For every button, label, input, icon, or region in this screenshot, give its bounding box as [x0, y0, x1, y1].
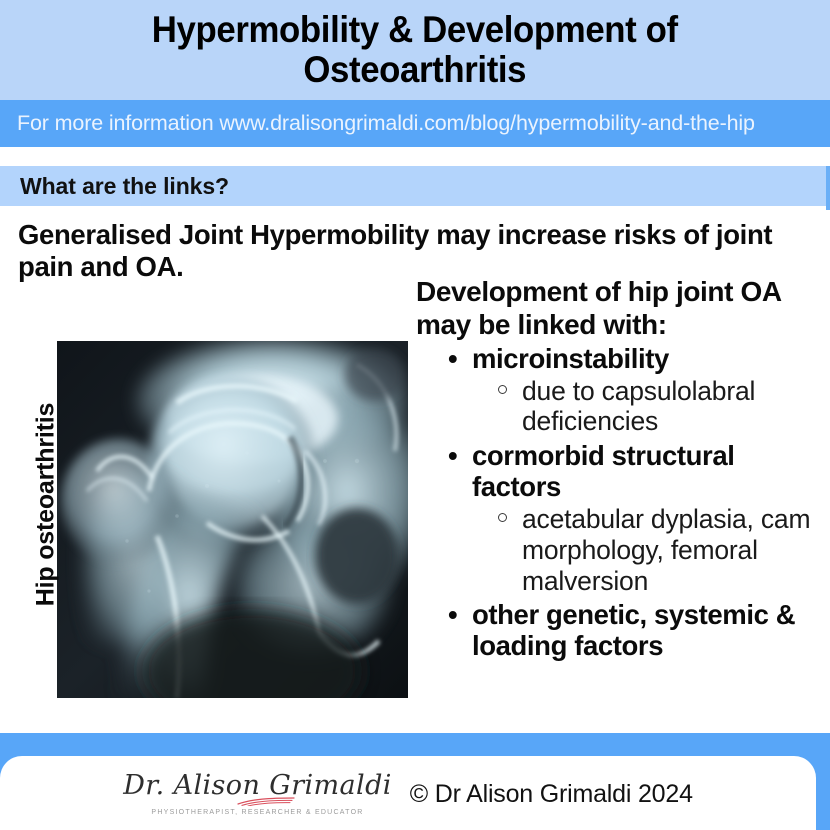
url-band: For more information www.dralisongrimald… — [0, 100, 830, 147]
hip-xray-radiograph-icon — [57, 341, 408, 698]
logo-signature-text: Dr. Alison Grimaldi — [123, 772, 392, 799]
sub-bullet-label: due to capsulolabral deficiencies — [522, 376, 755, 437]
logo-tagline: PHYSIOTHERAPIST, RESEARCHER & EDUCATOR — [151, 809, 363, 816]
figure-caption-vertical: Hip osteoarthritis — [32, 390, 61, 620]
subhead-right-edge-accent — [826, 166, 830, 210]
sub-bullet-label: acetabular dyplasia, cam morphology, fem… — [522, 504, 810, 595]
bullet-disc-icon: • — [448, 440, 457, 471]
infographic-slide: Hypermobility & Development of Osteoarth… — [0, 0, 830, 830]
list-item: • other genetic, systemic & loading fact… — [448, 599, 820, 661]
bullet-label: microinstability — [472, 343, 669, 374]
sub-list-item: due to capsulolabral deficiencies — [496, 376, 820, 437]
bullet-disc-icon: • — [448, 599, 457, 630]
sub-list-item: acetabular dyplasia, cam morphology, fem… — [496, 504, 820, 596]
sub-list: due to capsulolabral deficiencies — [472, 376, 820, 437]
blog-url-text[interactable]: For more information www.dralisongrimald… — [17, 111, 755, 136]
right-column-heading: Development of hip joint OA may be linke… — [416, 276, 820, 342]
page-title: Hypermobility & Development of Osteoarth… — [152, 10, 678, 90]
bullet-label: other genetic, systemic & loading factor… — [472, 599, 795, 661]
bullet-label: cormorbid structural factors — [472, 440, 734, 502]
logo-swoosh-icon — [236, 797, 298, 806]
hip-xray-image — [57, 341, 408, 698]
bullet-circle-icon — [498, 385, 507, 394]
title-band: Hypermobility & Development of Osteoarth… — [0, 0, 830, 100]
copyright-text: © Dr Alison Grimaldi 2024 — [410, 780, 693, 809]
right-column: Development of hip joint OA may be linke… — [416, 276, 820, 663]
lead-paragraph: Generalised Joint Hypermobility may incr… — [18, 219, 808, 284]
bullet-disc-icon: • — [448, 343, 457, 374]
subhead-label: What are the links? — [20, 173, 229, 200]
sub-list: acetabular dyplasia, cam morphology, fem… — [472, 504, 820, 596]
bullet-circle-icon — [498, 513, 507, 522]
linked-factors-list: • microinstability due to capsulolabral … — [416, 343, 820, 662]
footer-content: Dr. Alison Grimaldi PHYSIOTHERAPIST, RES… — [0, 756, 816, 830]
list-item: • microinstability due to capsulolabral … — [448, 343, 820, 438]
list-item: • cormorbid structural factors acetabula… — [448, 440, 820, 596]
brand-logo: Dr. Alison Grimaldi PHYSIOTHERAPIST, RES… — [123, 772, 392, 816]
subhead-band: What are the links? — [0, 166, 830, 206]
